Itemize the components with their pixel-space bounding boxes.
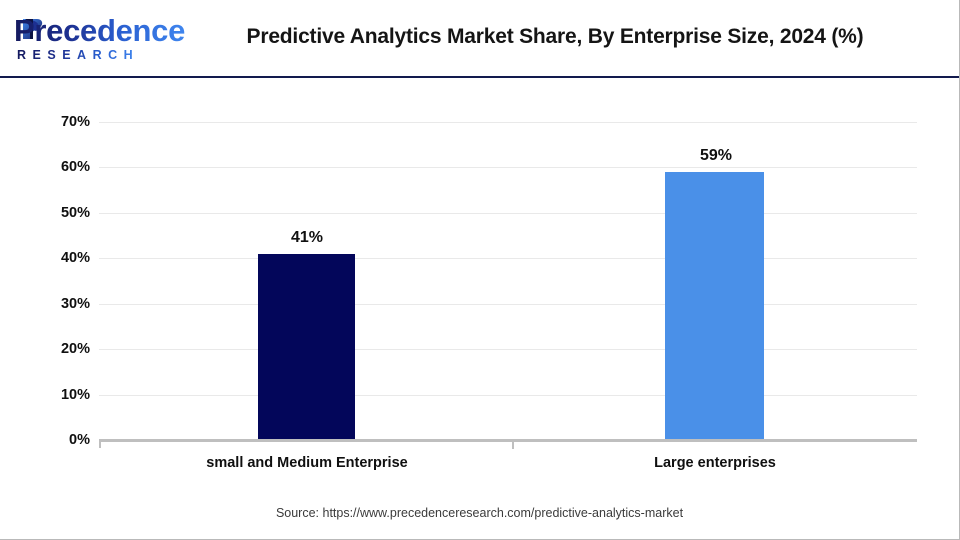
bar-value-label-small-and-medium-enterprise: 41%	[237, 229, 377, 247]
y-tick-label-40: 40%	[30, 250, 90, 266]
chart-header: Precedence RESEARCH Predictive Analytics…	[0, 0, 959, 78]
bar-large-enterprises[interactable]	[665, 172, 764, 440]
y-tick-label-70: 70%	[30, 114, 90, 130]
page-title: Predictive Analytics Market Share, By En…	[175, 25, 935, 49]
y-axis-origin-tick	[99, 439, 101, 448]
chart-page: Precedence RESEARCH Predictive Analytics…	[0, 0, 960, 540]
gridline-10	[99, 395, 917, 396]
bar-value-label-large-enterprises: 59%	[646, 147, 786, 165]
gridline-20	[99, 349, 917, 350]
precedence-research-logo: Precedence RESEARCH	[14, 14, 164, 64]
x-category-label-small-and-medium-enterprise: small and Medium Enterprise	[97, 455, 517, 471]
y-axis-labels: 70% 60% 50% 40% 30% 20% 10% 0%	[22, 79, 90, 539]
y-tick-label-20: 20%	[30, 341, 90, 357]
gridline-70	[99, 122, 917, 123]
y-tick-label-50: 50%	[30, 205, 90, 221]
y-tick-label-60: 60%	[30, 159, 90, 175]
gridline-30	[99, 304, 917, 305]
gridline-60	[99, 167, 917, 168]
y-tick-label-10: 10%	[30, 387, 90, 403]
y-tick-label-30: 30%	[30, 296, 90, 312]
logo-wordmark: Precedence	[14, 14, 185, 48]
logo-subtitle: RESEARCH	[17, 48, 139, 62]
x-axis-line	[99, 439, 917, 442]
bar-small-and-medium-enterprise[interactable]	[258, 254, 355, 440]
chart-plot-region: 70% 60% 50% 40% 30% 20% 10% 0% 41% 59% s…	[0, 79, 959, 539]
x-category-label-large-enterprises: Large enterprises	[505, 455, 925, 471]
y-tick-label-0: 0%	[30, 432, 90, 448]
gridline-50	[99, 213, 917, 214]
x-axis-category-tick	[512, 441, 514, 449]
plot-area	[99, 122, 917, 440]
source-note: Source: https://www.precedenceresearch.c…	[0, 506, 959, 520]
gridline-40	[99, 258, 917, 259]
